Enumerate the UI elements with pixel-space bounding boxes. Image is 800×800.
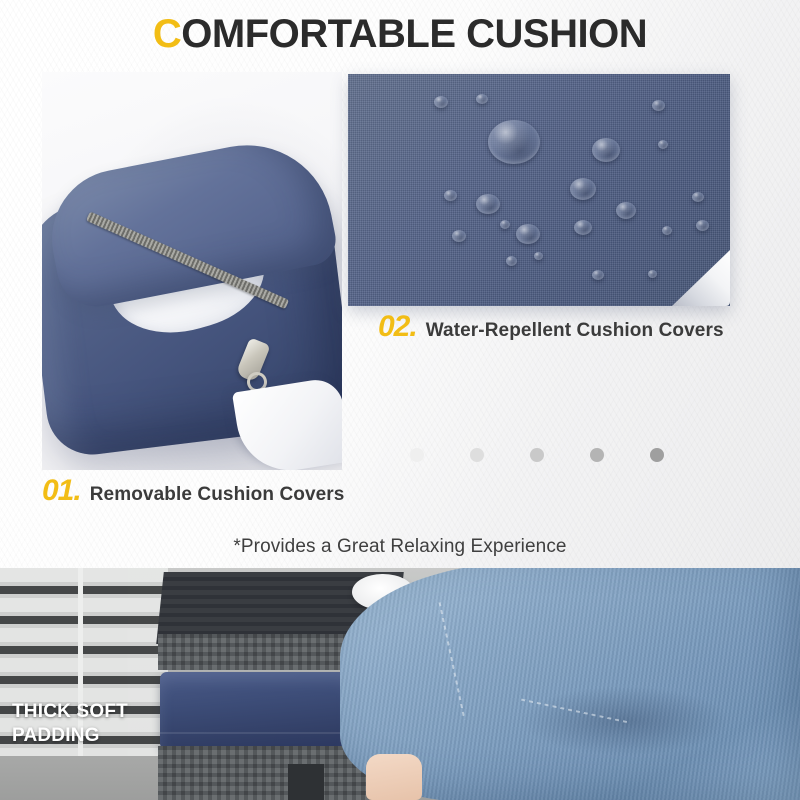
water-drop: [452, 230, 466, 242]
status-badge-thick-soft-padding: THICK SOFT PADDING: [12, 700, 128, 749]
person-ankle: [366, 754, 422, 800]
water-drop: [476, 94, 488, 104]
water-drop: [434, 96, 448, 108]
water-drop: [506, 256, 517, 266]
feature-number-02: 02.: [378, 310, 417, 344]
water-drop: [658, 140, 668, 149]
water-drop: [574, 220, 592, 235]
water-drop: [592, 270, 604, 280]
water-drop: [592, 138, 620, 162]
feature-caption-01: 01. Removable Cushion Covers: [42, 474, 344, 508]
water-drop: [648, 270, 657, 278]
page-title: COMFORTABLE CUSHION: [0, 14, 800, 54]
navy-cushion-left: [160, 672, 350, 750]
dot-1: [410, 448, 424, 462]
dot-2: [470, 448, 484, 462]
feature-caption-02: 02. Water-Repellent Cushion Covers: [378, 310, 724, 344]
badge-line-2: PADDING: [12, 724, 128, 748]
water-drop: [652, 100, 665, 111]
decorative-dot-row: [410, 448, 664, 462]
title-rest: OMFORTABLE CUSHION: [181, 12, 647, 56]
water-drop: [476, 194, 500, 214]
water-drop: [696, 220, 709, 231]
dot-5: [650, 448, 664, 462]
water-drop: [516, 224, 540, 244]
feature-image-removable-covers: [42, 72, 342, 470]
tagline-text: *Provides a Great Relaxing Experience: [0, 536, 800, 558]
upper-section: 02. Water-Repellent Cushion Covers 01. R…: [0, 0, 800, 568]
water-drop: [444, 190, 457, 201]
feature-label-02: Water-Repellent Cushion Covers: [426, 320, 724, 342]
water-drop: [616, 202, 636, 219]
water-drop: [570, 178, 596, 200]
dot-3: [530, 448, 544, 462]
water-drop: [692, 192, 704, 202]
page-curl-corner: [672, 250, 730, 306]
rattan-gap-left: [288, 764, 324, 800]
feature-label-01: Removable Cushion Covers: [90, 484, 345, 506]
title-accent-letter: C: [153, 12, 181, 56]
water-drop-large: [488, 120, 540, 164]
water-drop: [500, 220, 510, 229]
water-drop: [662, 226, 672, 235]
lifestyle-photo: [0, 568, 800, 800]
feature-number-01: 01.: [42, 474, 81, 508]
feature-image-water-repellent: [348, 74, 730, 306]
badge-line-1: THICK SOFT: [12, 700, 128, 724]
dot-4: [590, 448, 604, 462]
water-drop: [534, 252, 543, 260]
